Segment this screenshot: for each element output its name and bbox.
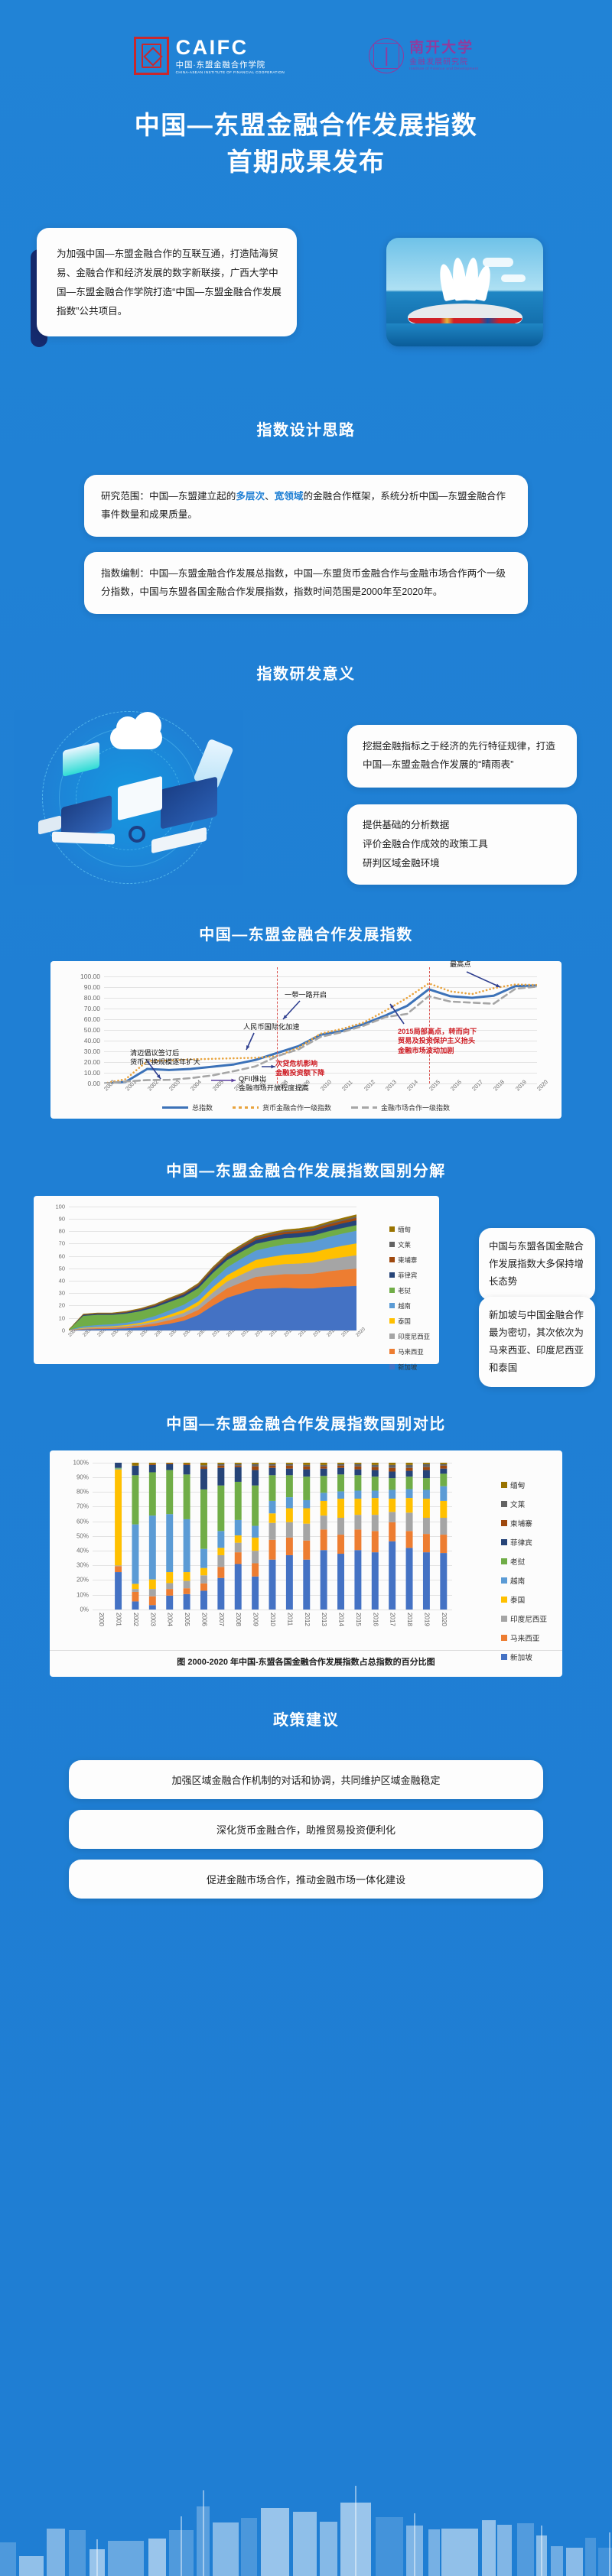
y-axis-tick: 0 [62,1327,65,1333]
chart-svg [104,976,537,1083]
legend-label: 印度尼西亚 [510,1613,547,1624]
bar-segment-菲律宾 [440,1469,447,1474]
x-axis-tick: 2013 [321,1613,327,1626]
bar-segment-柬埔寨 [372,1467,379,1470]
bar-segment-菲律宾 [132,1466,138,1475]
legend-item-total: 总指数 [162,1103,213,1113]
bar-segment-新加坡 [423,1552,430,1610]
bar-segment-缅甸 [354,1463,361,1464]
bar-segment-越南 [200,1549,207,1568]
bar-segment-马来西亚 [184,1588,190,1594]
legend-item-马来西亚: 马来西亚 [389,1347,430,1356]
scope-highlight-1: 多层次 [236,491,265,502]
building-shape [376,2517,403,2576]
bar-segment-菲律宾 [372,1470,379,1476]
legend-item-菲律宾: 菲律宾 [501,1537,547,1548]
bar-segment-新加坡 [303,1560,310,1610]
bar-segment-文莱 [252,1464,259,1467]
policy-item: 促进金融市场合作，推动金融市场一体化建设 [69,1860,543,1899]
technology-illustration [14,710,243,885]
legend-item-泰国: 泰国 [389,1317,430,1326]
bar-segment-老挝 [184,1474,190,1519]
building-shape [148,2539,167,2576]
bar-segment-印度尼西亚 [200,1575,207,1584]
bar-segment-老挝 [354,1475,361,1490]
y-axis-tick: 30 [59,1290,65,1297]
bar-segment-泰国 [149,1580,156,1589]
bar-segment-老挝 [440,1473,447,1486]
y-axis-tick: 30% [76,1562,89,1569]
y-axis-tick: 40 [59,1278,65,1285]
section-heading-design: 指数设计思路 [0,417,612,440]
bar-segment-菲律宾 [217,1468,224,1486]
intro-text: 为加强中国—东盟金融合作的互联互通，打造陆海贸易、金融合作和经济发展的数字新联接… [37,228,297,337]
legend-item-缅甸: 缅甸 [501,1480,547,1490]
bar-segment-马来西亚 [217,1567,224,1577]
bar-segment-马来西亚 [286,1538,293,1555]
bar-segment-老挝 [149,1472,156,1515]
bar-segment-缅甸 [269,1463,276,1464]
bar-segment-老挝 [406,1476,413,1489]
bar-segment-印度尼西亚 [389,1512,396,1522]
x-axis-tick: 2000 [98,1613,105,1626]
nankai-university-name: 南开大学 [409,41,478,57]
significance-card-barometer: 挖掘金融指标之于经济的先行特征规律，打造中国—东盟金融合作发展的“晴雨表” [347,725,577,788]
bar-segment-越南 [406,1489,413,1498]
building-shape [441,2529,478,2576]
policy-item: 深化货币金融合作，助推贸易投资便利化 [69,1810,543,1849]
bar-segment-越南 [115,1469,122,1470]
bar-segment-文莱 [321,1465,327,1467]
bar-segment-柬埔寨 [200,1467,207,1469]
bar-segment-缅甸 [389,1463,396,1465]
bar-segment-菲律宾 [321,1469,327,1476]
x-axis-tick: 2018 [406,1613,413,1626]
legend-label: 泰国 [510,1594,525,1605]
y-axis-tick: 70 [59,1240,65,1247]
bar-segment-马来西亚 [149,1597,156,1606]
significance-use-item: 评价金融合作成效的政策工具 [363,835,562,854]
legend-label: 菲律宾 [398,1271,417,1280]
bar-segment-印度尼西亚 [269,1523,276,1540]
bar-segment-泰国 [252,1538,259,1551]
legend-item-缅甸: 缅甸 [389,1225,430,1234]
bar-segment-柬埔寨 [286,1466,293,1469]
bar-segment-缅甸 [286,1463,293,1464]
bar-segment-柬埔寨 [423,1467,430,1470]
legend-label: 新加坡 [398,1363,417,1372]
bar-segment-老挝 [321,1476,327,1493]
chart-svg [69,1207,356,1330]
cloud-icon [110,726,162,749]
bar-segment-菲律宾 [354,1470,361,1476]
bar-segment-泰国 [235,1535,242,1543]
bar-segment-菲律宾 [303,1470,310,1477]
y-axis-tick: 40.00 [84,1037,100,1044]
bar-segment-越南 [321,1493,327,1501]
city-skyline-illustration [0,2486,612,2576]
legend-swatch [389,1242,395,1247]
y-axis-tick: 100.00 [80,973,100,980]
bar-segment-菲律宾 [235,1467,242,1482]
legend-label: 文莱 [398,1240,411,1249]
bar-segment-泰国 [303,1508,310,1523]
bar-segment-新加坡 [200,1590,207,1610]
building-shape [482,2520,496,2576]
chart1-title: 中国—东盟金融合作发展指数 [0,922,612,944]
bar-segment-新加坡 [406,1548,413,1610]
nankai-seal-icon [369,38,404,73]
bar-segment-老挝 [337,1474,344,1491]
y-axis-tick: 60 [59,1252,65,1259]
y-axis-tick: 30.00 [84,1048,100,1055]
legend-swatch-dotted [233,1106,259,1109]
bar-segment-越南 [269,1501,276,1513]
x-axis-tick: 2009 [252,1613,259,1626]
bar-segment-缅甸 [440,1463,447,1464]
bar-segment-老挝 [200,1489,207,1549]
legend-label: 越南 [510,1575,525,1586]
bar-segment-新加坡 [337,1554,344,1610]
bar-segment-马来西亚 [200,1584,207,1591]
building-illustration [433,256,497,310]
y-axis-tick: 0.00 [87,1080,100,1087]
x-axis-tick: 2004 [167,1613,174,1626]
bar-segment-马来西亚 [440,1535,447,1553]
bar-segment-印度尼西亚 [235,1543,242,1552]
bar-segment-新加坡 [166,1596,173,1610]
gear-icon [129,826,145,843]
bar-segment-泰国 [286,1508,293,1522]
legend-item-文莱: 文莱 [389,1240,430,1249]
bar-segment-柬埔寨 [252,1467,259,1470]
building-spire [355,2486,356,2576]
legend-label: 缅甸 [510,1480,525,1490]
bar-segment-泰国 [321,1501,327,1515]
bar-segment-柬埔寨 [321,1467,327,1469]
chart2-section: 0102030405060708090100200020012002200320… [0,1196,612,1385]
x-axis-tick: 2016 [372,1613,379,1626]
x-axis-tick: 2003 [149,1613,156,1626]
section-heading-significance: 指数研发意义 [0,661,612,684]
bar-segment-文莱 [389,1465,396,1468]
bar-segment-泰国 [166,1572,173,1583]
bar-segment-老挝 [235,1482,242,1520]
section-heading-policy: 政策建议 [0,1707,612,1730]
bar-segment-缅甸 [423,1463,430,1464]
y-axis-tick: 60.00 [84,1015,100,1023]
legend-item-文莱: 文莱 [501,1499,547,1509]
bar-segment-新加坡 [132,1601,138,1610]
building-shape [261,2508,289,2576]
legend-item-market: 金融市场合作一级指数 [351,1103,450,1113]
bar-segment-柬埔寨 [166,1463,173,1464]
bar-segment-印度尼西亚 [337,1518,344,1535]
legend-label: 文莱 [510,1499,525,1509]
bar-segment-马来西亚 [235,1552,242,1564]
bar-segment-越南 [423,1489,430,1499]
caifc-logo: CAIFC 中国·东盟金融合作学院 CHINA-ASEAN INSTITUTE … [134,37,285,75]
bar-segment-泰国 [389,1499,396,1512]
intro-section: 为加强中国—东盟金融合作的互联互通，打造陆海贸易、金融合作和经济发展的数字新联接… [0,228,612,365]
bar-segment-柬埔寨 [184,1464,190,1465]
bar-segment-越南 [440,1486,447,1501]
bar-segment-泰国 [184,1572,190,1581]
bar-segment-泰国 [337,1499,344,1518]
legend-label: 泰国 [398,1317,411,1326]
bar-chart-panel: 0%10%20%30%40%50%60%70%80%90%100%2000200… [50,1450,562,1677]
design-card-scope: 研究范围：中国—东盟建立起的多层次、宽领域的金融合作框架，系统分析中国—东盟金融… [84,475,528,537]
bar-chart-plot: 0%10%20%30%40%50%60%70%80%90%100%2000200… [93,1463,452,1610]
y-axis-tick: 0% [80,1606,89,1613]
y-axis-tick: 20.00 [84,1058,100,1066]
bar-segment-马来西亚 [252,1563,259,1576]
bar-segment-菲律宾 [115,1463,122,1468]
x-axis-tick: 2001 [116,1613,122,1626]
building-shape [241,2518,258,2576]
legend-item-印度尼西亚: 印度尼西亚 [389,1332,430,1341]
y-axis-tick: 10% [76,1591,89,1598]
bar-segment-越南 [217,1531,224,1548]
building-shape [517,2523,534,2576]
bar-segment-新加坡 [286,1555,293,1610]
bar-segment-文莱 [406,1465,413,1468]
bar-segment-越南 [286,1497,293,1508]
bar-segment-老挝 [423,1478,430,1489]
y-axis-tick: 20 [59,1302,65,1309]
bar-segment-新加坡 [440,1553,447,1610]
x-axis-tick: 2011 [286,1613,293,1626]
legend-swatch [501,1501,507,1507]
x-axis-tick: 2015 [355,1613,362,1626]
country-note-ranking: 新加坡与中国金融合作最为密切，其次依次为马来西亚、印度尼西亚和泰国 [479,1297,595,1387]
design-card-compilation: 指数编制：中国—东盟金融合作发展总指数，中国—东盟货币金融合作与金融市场合作两个… [84,552,528,614]
x-axis-tick: 2010 [269,1613,276,1626]
legend-swatch [389,1257,395,1262]
bar-segment-马来西亚 [132,1592,138,1601]
nankai-institute-name: 金融发展研究院 [409,58,478,67]
bar-segment-越南 [354,1490,361,1499]
legend-item-菲律宾: 菲律宾 [389,1271,430,1280]
legend-swatch [501,1482,507,1488]
bar-segment-文莱 [235,1464,242,1466]
legend-swatch-solid [162,1106,188,1109]
bar-segment-马来西亚 [303,1541,310,1560]
significance-section: 挖掘金融指标之于经济的先行特征规律，打造中国—东盟金融合作发展的“晴雨表” 提供… [0,705,612,896]
bar-segment-菲律宾 [423,1470,430,1478]
bar-segment-老挝 [389,1478,396,1489]
bar-segment-菲律宾 [406,1470,413,1476]
bar-segment-柬埔寨 [440,1466,447,1469]
legend-item-马来西亚: 马来西亚 [501,1632,547,1643]
legend-label: 印度尼西亚 [398,1332,430,1341]
building-shape [566,2548,583,2576]
legend-item-monetary: 货币金融合作一级指数 [233,1103,331,1113]
x-axis-tick: 2005 [184,1613,190,1626]
building-spire [414,2513,415,2576]
bar-segment-缅甸 [252,1463,259,1464]
legend-swatch [501,1577,507,1584]
legend-label: 老挝 [510,1556,525,1567]
building-shape [497,2525,512,2576]
building-shape [47,2529,65,2576]
bar-segment-马来西亚 [321,1529,327,1550]
caifc-abbr: CAIFC [176,37,285,58]
legend-swatch [389,1364,395,1369]
y-axis-tick: 80 [59,1228,65,1235]
legend-label: 老挝 [398,1286,411,1295]
bar-segment-菲律宾 [166,1464,173,1470]
legend-item-柬埔寨: 柬埔寨 [389,1256,430,1265]
bar-segment-泰国 [115,1470,122,1566]
bar-segment-印度尼西亚 [372,1515,379,1531]
policy-list: 加强区域金融合作机制的对话和协调，共同维护区域金融稳定 深化货币金融合作，助推贸… [0,1760,612,1899]
x-axis-tick: 2012 [304,1613,311,1626]
area-chart-plot: 0102030405060708090100200020012002200320… [69,1207,356,1330]
bar-segment-缅甸 [337,1463,344,1464]
bar-segment-老挝 [286,1475,293,1497]
bar-segment-文莱 [354,1464,361,1467]
legend-label: 金融市场合作一级指数 [381,1103,450,1113]
bar-segment-泰国 [423,1499,430,1518]
line-chart-plot: 0.0010.0020.0030.0040.0050.0060.0070.008… [104,976,537,1083]
legend-label: 缅甸 [398,1225,411,1234]
y-axis-tick: 80.00 [84,994,100,1002]
bar-segment-菲律宾 [184,1465,190,1474]
building-shape [551,2546,563,2576]
bar-segment-老挝 [217,1486,224,1532]
significance-card-uses: 提供基础的分析数据 评价金融合作成效的政策工具 研判区域金融环境 [347,804,577,885]
caifc-en-name: CHINA-ASEAN INSTITUTE OF FINANCIAL COOPE… [176,71,285,75]
bar-segment-马来西亚 [389,1522,396,1541]
bar-segment-越南 [252,1525,259,1537]
bar-segment-菲律宾 [337,1468,344,1475]
bar-segment-新加坡 [389,1541,396,1610]
x-axis-tick: 2019 [423,1613,430,1626]
bar-segment-缅甸 [200,1463,207,1465]
bar-segment-新加坡 [269,1560,276,1610]
bar-segment-缅甸 [132,1463,138,1466]
bar-segment-文莱 [372,1465,379,1467]
x-axis-tick: 2017 [389,1613,396,1626]
bar-segment-泰国 [200,1568,207,1576]
building-shape [293,2512,317,2576]
bar-segment-新加坡 [217,1578,224,1610]
nanning-landmark-photo [386,238,543,346]
building-shape [428,2529,439,2576]
chart3-caption: 图 2000-2020 年中国-东盟各国金融合作发展指数占总指数的百分比图 [50,1650,562,1675]
x-axis-tick: 2007 [218,1613,225,1626]
bar-segment-菲律宾 [149,1465,156,1473]
chart-annotation: 最高点 [450,960,471,969]
legend-swatch [389,1288,395,1293]
bar-segment-老挝 [132,1475,138,1524]
bar-segment-越南 [337,1491,344,1499]
building-spire [203,2490,204,2576]
legend-label: 货币金融合作一级指数 [262,1103,331,1113]
scope-prefix: 研究范围：中国—东盟建立起的 [101,491,236,502]
nankai-en-name: Institute of Finance and Development [409,67,478,71]
caifc-seal-icon [134,37,169,75]
legend-swatch [501,1520,507,1526]
building-spire [96,2539,98,2576]
legend-item-新加坡: 新加坡 [389,1363,430,1372]
building-shape [19,2556,43,2576]
bar-segment-文莱 [200,1465,207,1467]
legend-label: 越南 [398,1301,411,1311]
bar-segment-新加坡 [321,1550,327,1610]
y-axis-tick: 10 [59,1314,65,1321]
legend-swatch [389,1349,395,1354]
y-axis-tick: 90.00 [84,983,100,991]
legend-item-印度尼西亚: 印度尼西亚 [501,1613,547,1624]
bar-segment-越南 [372,1490,379,1498]
line-chart-panel: 0.0010.0020.0030.0040.0050.0060.0070.008… [50,961,562,1119]
y-axis-tick: 90% [76,1474,89,1481]
bar-segment-文莱 [269,1464,276,1466]
bar-segment-新加坡 [149,1605,156,1610]
scope-highlight-2: 宽领域 [275,491,304,502]
bar-segment-印度尼西亚 [303,1524,310,1541]
bar-segment-印度尼西亚 [354,1515,361,1529]
bar-segment-柬埔寨 [217,1466,224,1468]
bar-segment-文莱 [286,1464,293,1466]
y-axis-tick: 20% [76,1577,89,1584]
bar-segment-越南 [149,1515,156,1580]
building-shape [585,2538,596,2576]
bar-segment-柬埔寨 [235,1466,242,1467]
building-spire [541,2526,542,2576]
building-shape [0,2542,16,2576]
y-axis-tick: 80% [76,1489,89,1496]
bar-segment-越南 [166,1514,173,1572]
y-axis-tick: 100 [55,1203,65,1210]
building-spire [181,2516,182,2576]
y-axis-tick: 10.00 [84,1069,100,1077]
y-axis-tick: 100% [73,1459,89,1466]
bar-segment-印度尼西亚 [166,1583,173,1589]
bar-segment-印度尼西亚 [184,1580,190,1588]
bar-segment-泰国 [440,1501,447,1518]
x-axis-tick: 2008 [235,1613,242,1626]
legend-label: 柬埔寨 [510,1518,532,1528]
bar-segment-文莱 [440,1464,447,1466]
bar-segment-越南 [303,1500,310,1509]
legend-swatch [501,1635,507,1641]
x-axis-tick: 2014 [338,1613,345,1626]
bar-segment-菲律宾 [269,1468,276,1476]
bar-segment-印度尼西亚 [115,1565,122,1566]
chart1-legend: 总指数 货币金融合作一级指数 金融市场合作一级指数 [50,1096,562,1113]
legend-item-柬埔寨: 柬埔寨 [501,1518,547,1528]
logo-row: CAIFC 中国·东盟金融合作学院 CHINA-ASEAN INSTITUTE … [0,0,612,75]
bar-segment-缅甸 [166,1463,173,1463]
legend-item-越南: 越南 [389,1301,430,1311]
bar-segment-马来西亚 [406,1531,413,1548]
bar-segment-老挝 [252,1486,259,1526]
legend-label: 马来西亚 [398,1347,424,1356]
legend-item-老挝: 老挝 [501,1556,547,1567]
bar-segment-缅甸 [406,1463,413,1465]
bar-segment-泰国 [354,1499,361,1515]
bar-segment-印度尼西亚 [406,1512,413,1531]
bar-segment-菲律宾 [286,1469,293,1476]
area-chart-panel: 0102030405060708090100200020012002200320… [34,1196,439,1364]
bar-segment-印度尼西亚 [321,1515,327,1529]
x-axis-tick: 2020 [535,1078,549,1092]
bar-segment-马来西亚 [372,1531,379,1552]
bar-segment-缅甸 [321,1463,327,1465]
